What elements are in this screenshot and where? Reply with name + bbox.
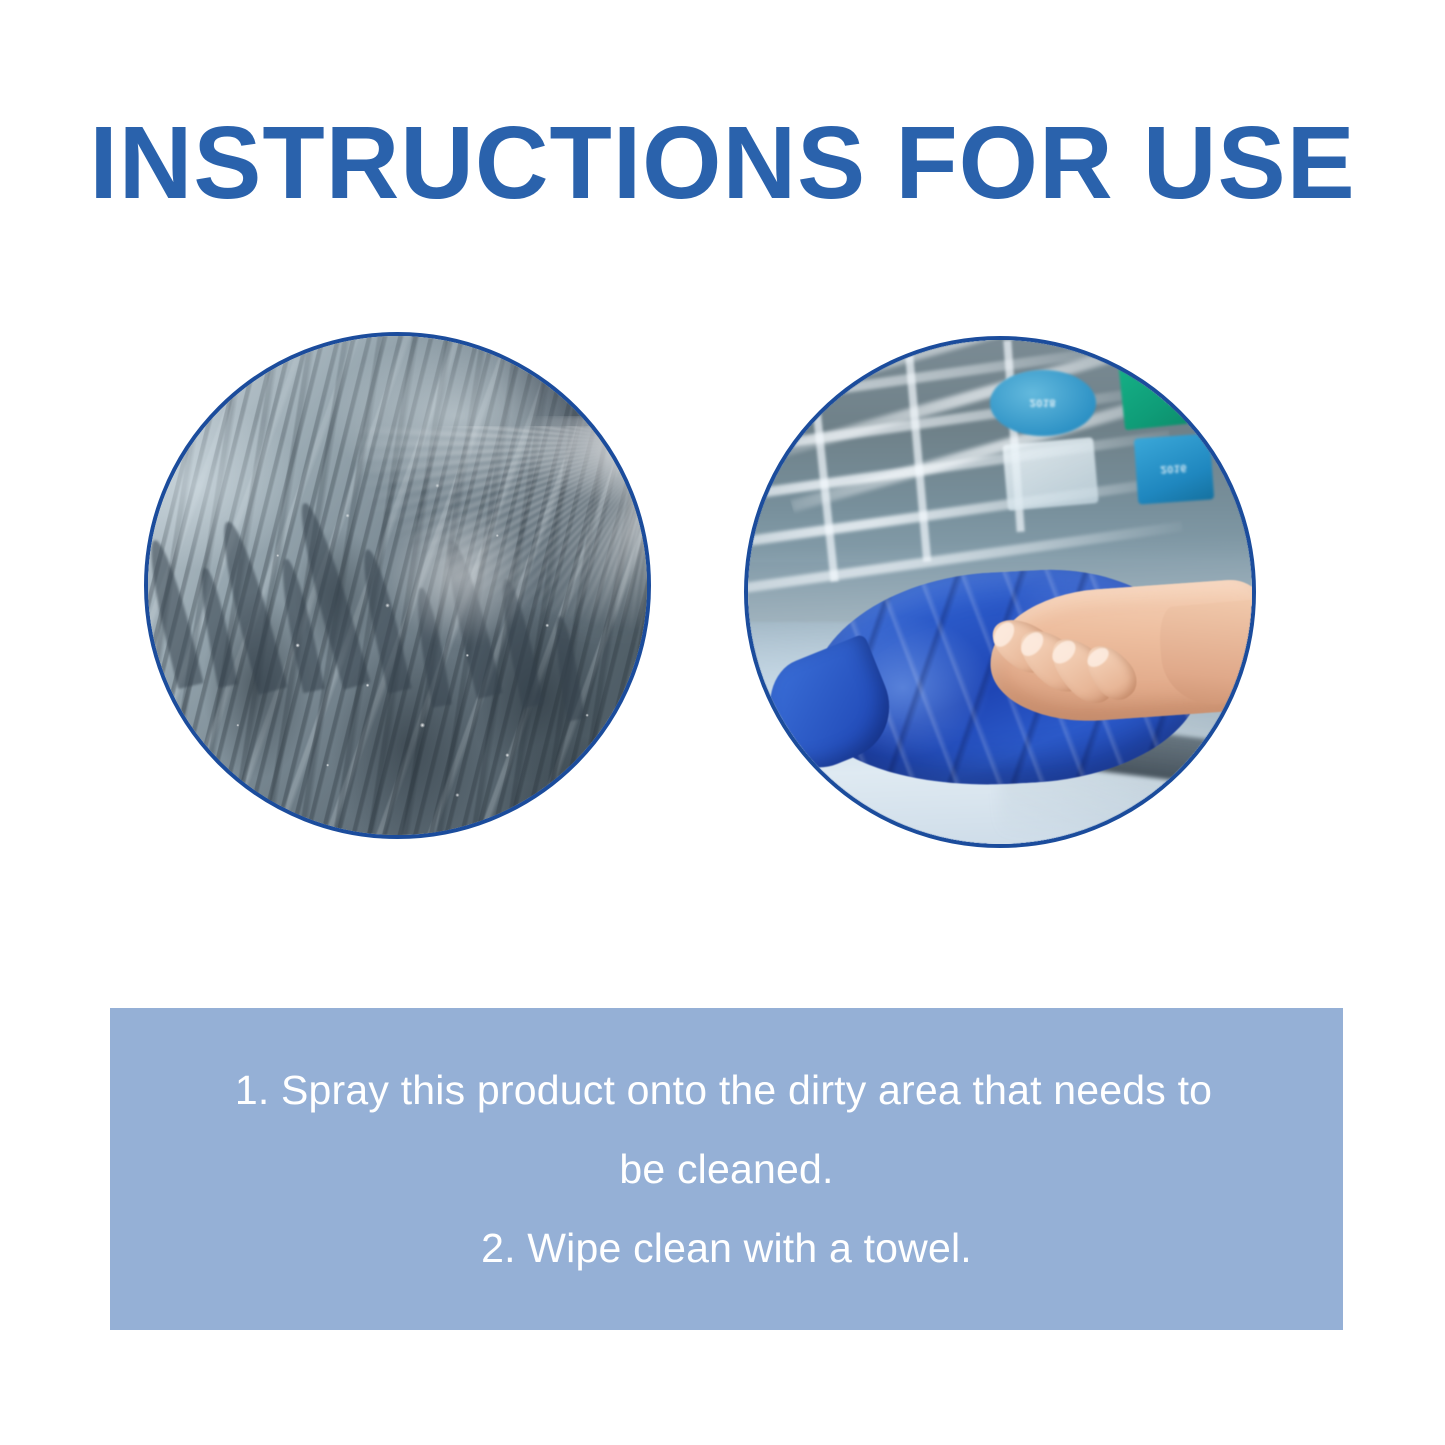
- windshield-sticker-green: [1117, 346, 1210, 430]
- instruction-line-1: 1. Spray this product onto the dirty are…: [235, 1051, 1212, 1130]
- instruction-line-3: 2. Wipe clean with a towel.: [481, 1209, 972, 1288]
- page-title: INSTRUCTIONS FOR USE: [7, 108, 1438, 218]
- step-2-photo-circle: 2018 2016: [744, 336, 1256, 848]
- wipe-photo: 2018 2016: [748, 340, 1252, 844]
- instruction-line-2: be cleaned.: [619, 1130, 833, 1209]
- windshield-sticker-oval: 2018: [990, 370, 1096, 436]
- sticker-oval-label: 2018: [990, 370, 1096, 436]
- instructions-panel: 1. Spray this product onto the dirty are…: [110, 1008, 1343, 1330]
- windshield-sticker-white: [1002, 437, 1098, 510]
- water-droplets: [148, 336, 647, 835]
- spray-photo: [148, 336, 647, 835]
- sticker-square-label: 2016: [1134, 433, 1214, 504]
- windshield-sticker-square: 2016: [1134, 433, 1214, 504]
- instructions-page: INSTRUCTIONS FOR USE: [0, 0, 1445, 1445]
- step-1-photo-circle: [144, 332, 651, 839]
